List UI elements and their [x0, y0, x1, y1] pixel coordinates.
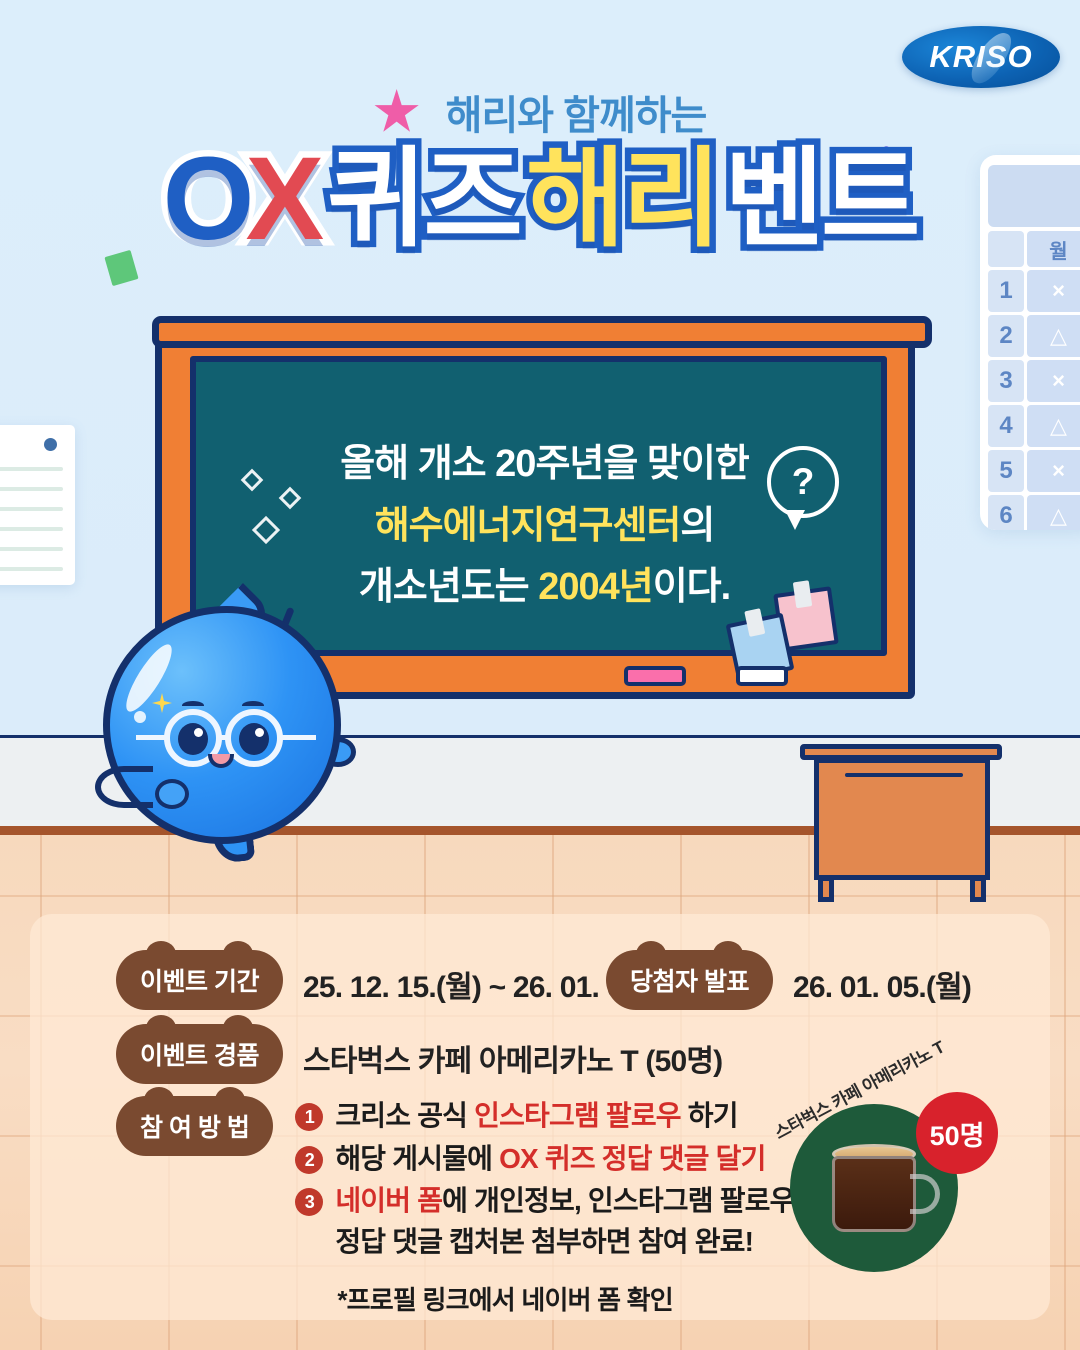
winner-announce-value: 26. 01. 05.(월) — [793, 950, 971, 1006]
prize-count-badge: 50명 — [916, 1092, 998, 1174]
timetable-cell: × — [1027, 360, 1080, 402]
mascot-body — [103, 606, 341, 844]
timetable-row: 6△ — [988, 495, 1080, 530]
mascot-sparkle-icon — [152, 693, 172, 713]
quiz-line-2-tail: 의 — [680, 505, 714, 547]
step-text: 네이버 폼에 개인정보, 인스타그램 팔로우,정답 댓글 캡처본 첨부하면 참여… — [335, 1181, 801, 1262]
quiz-line-2-highlight: 해수에너지연구센터 — [375, 505, 681, 547]
timetable-row-number: 2 — [988, 315, 1024, 357]
cheek — [155, 779, 189, 809]
title-part-X: X — [245, 140, 321, 258]
notepad-line — [0, 467, 63, 471]
timetable-row: 2△ — [988, 315, 1080, 357]
desk-edge-line — [845, 773, 963, 777]
event-period-row: 이벤트 기간 25. 12. 15.(월) ~ 26. 01. 02.(금) — [116, 950, 691, 1010]
timetable-cell: × — [1027, 270, 1080, 312]
poster-root: 월 1×2△3×4△5×6△ KRISO 해리와 함께하는 OX퀴즈해리벤트 올… — [0, 0, 1080, 1350]
timetable-row: 5× — [988, 450, 1080, 492]
desk-body — [814, 758, 990, 880]
quiz-line-3-tail: 이다. — [653, 566, 730, 608]
winner-announce-label: 당첨자 발표 — [606, 950, 773, 1010]
desk-leg-right — [970, 876, 986, 902]
glasses-bridge — [220, 735, 230, 740]
glasses-arm-left — [136, 735, 166, 740]
timetable-row-number: 1 — [988, 270, 1024, 312]
mascot-haeri — [103, 606, 349, 874]
subtitle-text: 해리와 함께하는 — [446, 83, 707, 141]
mascot-arm — [95, 766, 153, 808]
timetable-cell: × — [1027, 450, 1080, 492]
notepad-decoration — [0, 425, 75, 585]
timetable-row: 1× — [988, 270, 1080, 312]
title-part-해리: 해리 — [526, 145, 719, 253]
notepad-dot — [44, 438, 57, 451]
eyebrow-left — [182, 701, 204, 710]
winner-announce-row: 당첨자 발표 26. 01. 05.(월) — [606, 950, 971, 1010]
pink-chalk-icon — [624, 666, 686, 686]
notepad-line — [0, 567, 63, 571]
main-title: OX퀴즈해리벤트 — [0, 140, 1080, 258]
timetable-rows: 1×2△3×4△5×6△ — [988, 270, 1080, 530]
question-mark-text: ? — [792, 461, 815, 503]
title-part-퀴즈: 퀴즈 — [327, 145, 520, 253]
mouth — [208, 754, 234, 768]
timetable-row: 3× — [988, 360, 1080, 402]
how-to-join-step: 2해당 게시물에 OX 퀴즈 정답 댓글 달기 — [295, 1139, 801, 1180]
step-number-badge: 2 — [295, 1146, 323, 1174]
step-text: 해당 게시물에 OX 퀴즈 정답 댓글 달기 — [335, 1139, 765, 1180]
timetable-row-number: 6 — [988, 495, 1024, 530]
quiz-line-3-head: 개소년도는 — [359, 566, 538, 608]
timetable-row-number: 4 — [988, 405, 1024, 447]
question-bubble-tail-icon — [785, 510, 805, 530]
event-prize-row: 이벤트 경품 스타벅스 카페 아메리카노 T (50명) — [116, 1024, 722, 1084]
mascot-shine-icon — [119, 639, 179, 717]
step-number-badge: 3 — [295, 1188, 323, 1216]
kriso-logo: KRISO — [902, 26, 1060, 88]
how-to-join-steps: 1크리소 공식 인스타그램 팔로우 하기2해당 게시물에 OX 퀴즈 정답 댓글… — [273, 1096, 801, 1317]
timetable-cell: △ — [1027, 405, 1080, 447]
timetable-cell: △ — [1027, 315, 1080, 357]
coffee-cup-icon — [832, 1156, 916, 1232]
title-part-벤트: 벤트 — [725, 145, 918, 253]
question-mark-bubble: ? — [767, 446, 839, 518]
how-to-join-note: *프로필 링크에서 네이버 폼 확인 — [295, 1280, 801, 1317]
blackboard-top-rail — [152, 316, 932, 348]
title-part-O: O — [163, 140, 252, 258]
notepad-line — [0, 527, 63, 531]
step-number-badge: 1 — [295, 1103, 323, 1131]
timetable-row: 4△ — [988, 405, 1080, 447]
eye-left — [178, 723, 208, 755]
desk-leg-left — [818, 876, 834, 902]
event-period-label: 이벤트 기간 — [116, 950, 283, 1010]
how-to-join-step: 3네이버 폼에 개인정보, 인스타그램 팔로우,정답 댓글 캡처본 첨부하면 참… — [295, 1181, 801, 1262]
how-to-join-step: 1크리소 공식 인스타그램 팔로우 하기 — [295, 1096, 801, 1137]
mascot-shine-dot-icon — [134, 711, 146, 723]
eye-right — [239, 723, 269, 755]
notepad-line — [0, 547, 63, 551]
event-prize-label: 이벤트 경품 — [116, 1024, 283, 1084]
quiz-line-3-highlight: 2004년 — [538, 566, 653, 608]
sparkle-star-icon — [374, 89, 420, 135]
notepad-line — [0, 507, 63, 511]
event-prize-value: 스타벅스 카페 아메리카노 T (50명) — [303, 1024, 722, 1080]
how-to-join-row: 참 여 방 법 1크리소 공식 인스타그램 팔로우 하기2해당 게시물에 OX … — [116, 1096, 802, 1317]
prize-badge: 스타벅스 카페 아메리카노 T 50명 — [770, 1070, 1000, 1280]
notepad-line — [0, 487, 63, 491]
floor-plank — [1064, 835, 1066, 1350]
white-chalk-icon — [736, 666, 788, 686]
timetable-row-number: 3 — [988, 360, 1024, 402]
step-text: 크리소 공식 인스타그램 팔로우 하기 — [335, 1096, 737, 1137]
timetable-cell: △ — [1027, 495, 1080, 530]
timetable-row-number: 5 — [988, 450, 1024, 492]
glasses-arm-right — [282, 735, 316, 740]
how-to-join-label: 참 여 방 법 — [116, 1096, 273, 1156]
eyebrow-right — [242, 701, 264, 710]
floor-seam — [0, 895, 1080, 897]
subtitle-row: 해리와 함께하는 — [0, 83, 1080, 141]
tape-icon — [793, 580, 812, 608]
